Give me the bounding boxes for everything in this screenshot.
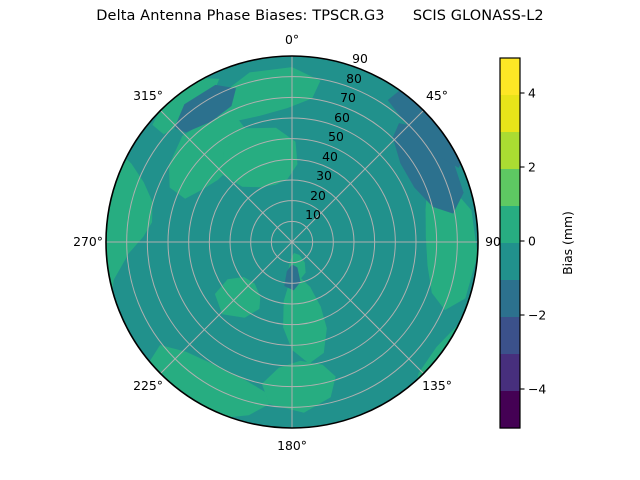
colorbar-band — [500, 169, 520, 207]
angular-tick-label-225: 225° — [133, 378, 163, 393]
radial-tick-label-50: 50 — [328, 129, 344, 144]
colorbar-band — [500, 95, 520, 133]
angular-tick-label-180: 180° — [277, 438, 307, 453]
colorbar-tick-label: −4 — [528, 381, 546, 396]
angular-tick-label-270: 270° — [73, 234, 103, 249]
colorbar-tick-label: 2 — [528, 159, 536, 174]
figure-canvas: Delta Antenna Phase Biases: TPSCR.G3 SCI… — [0, 0, 640, 480]
colorbar-band — [500, 317, 520, 355]
radial-tick-label-70: 70 — [340, 90, 356, 105]
colorbar-band — [500, 391, 520, 429]
angular-tick-label-315: 315° — [133, 88, 163, 103]
colorbar-tick-label: 0 — [528, 233, 536, 248]
colorbar: 420−2−4Bias (mm) — [500, 58, 575, 429]
colorbar-axis-label: Bias (mm) — [560, 211, 575, 275]
contour-band-green — [51, 136, 83, 289]
colorbar-band — [500, 206, 520, 244]
radial-tick-label-30: 30 — [316, 168, 332, 183]
colorbar-band — [500, 58, 520, 96]
radial-tick-label-20: 20 — [310, 188, 326, 203]
colorbar-band — [500, 354, 520, 392]
colorbar-band — [500, 243, 520, 281]
angular-tick-label-45: 45° — [426, 88, 448, 103]
radial-tick-label-60: 60 — [334, 110, 350, 125]
polar-grid — [106, 56, 478, 428]
colorbar-tick-label: −2 — [528, 307, 546, 322]
angular-tick-label-0: 0° — [285, 32, 299, 47]
radial-tick-label-90: 90 — [352, 51, 368, 66]
radial-tick-label-80: 80 — [346, 71, 362, 86]
colorbar-band — [500, 280, 520, 318]
radial-tick-label-10: 10 — [305, 207, 321, 222]
radial-tick-label-40: 40 — [322, 149, 338, 164]
colorbar-band — [500, 132, 520, 170]
angular-tick-label-90: 90 — [485, 234, 501, 249]
colorbar-tick-label: 4 — [528, 85, 536, 100]
angular-tick-label-135: 135° — [422, 378, 452, 393]
polar-plot: 0°45°90135°180°225°270°315° 102030405060… — [0, 0, 640, 480]
